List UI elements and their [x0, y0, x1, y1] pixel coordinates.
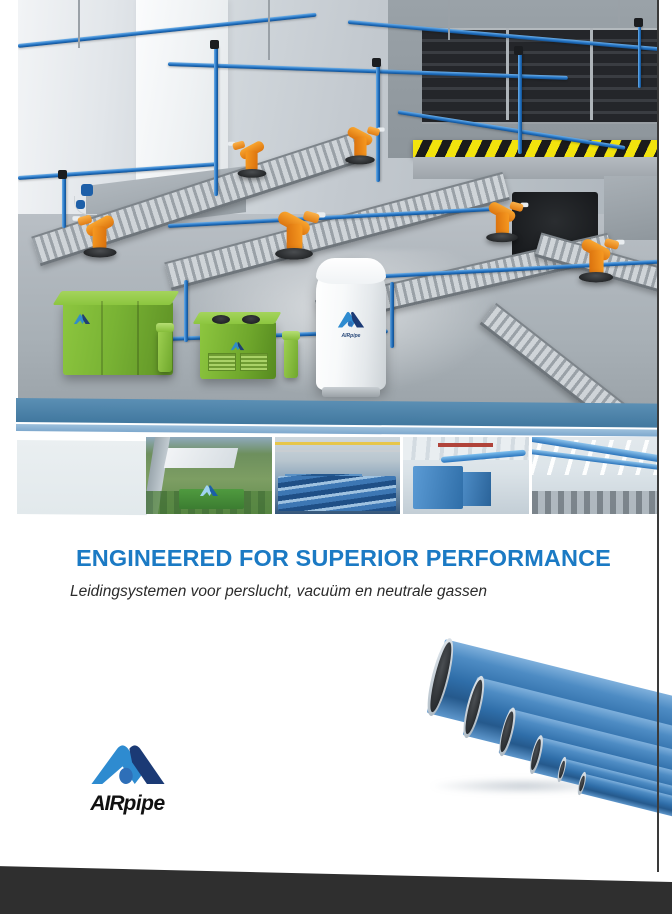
air-pipe-drop — [62, 176, 66, 228]
pipe-fitting — [58, 170, 67, 179]
robot-base — [579, 272, 613, 282]
pipe-hanger — [448, 0, 450, 40]
tank-dome — [316, 258, 386, 284]
robot-base — [275, 248, 313, 260]
fan-grille — [242, 315, 260, 324]
inline-filter — [284, 338, 298, 378]
fan-grille — [212, 315, 230, 324]
tank-branding: AIRpipe — [330, 310, 372, 339]
factory-roof — [164, 448, 239, 468]
page-border-right — [657, 0, 659, 872]
robotic-arm — [234, 128, 269, 178]
thumbnail-production-hall — [532, 437, 658, 514]
roof-truss — [275, 450, 401, 452]
vent-grille — [208, 353, 236, 371]
thumbnail-compressor-room — [403, 437, 529, 514]
robotic-arm — [575, 224, 617, 283]
roof-branding — [199, 484, 219, 502]
dryer-top — [193, 312, 282, 324]
air-pipe-drop — [214, 46, 218, 196]
robot-base — [238, 169, 267, 178]
filter-head — [156, 323, 174, 332]
air-pipe-drop — [518, 50, 522, 154]
panel-seam — [137, 301, 139, 375]
robot-base — [83, 247, 116, 257]
pipe-fitting — [372, 58, 381, 67]
crane-beam — [275, 442, 401, 445]
air-pipe-drop — [184, 280, 188, 342]
hero-image: AIRpipe — [18, 0, 657, 412]
compressor-unit — [463, 472, 491, 506]
air-outlet-station — [81, 184, 93, 196]
pipe-hanger — [268, 0, 270, 60]
footer-band — [0, 866, 672, 914]
brand-wordmark: AIRpipe — [70, 792, 185, 816]
airpipe-logo-icon — [230, 341, 245, 351]
thumbnail-aerial-factory-view — [146, 437, 272, 514]
vent-grille — [240, 353, 268, 371]
pipe-hanger — [618, 0, 620, 24]
refrigerant-dryer — [200, 321, 276, 379]
pipe-fitting — [514, 46, 523, 55]
airpipe-logo-svg — [87, 742, 169, 788]
pipe-fitting — [210, 40, 219, 49]
airpipe-logo-icon — [336, 310, 366, 329]
robot-base — [486, 233, 518, 243]
air-pipe-drop — [390, 282, 394, 348]
thumbnail-strip — [146, 437, 657, 514]
tank-wordmark: AIRpipe — [330, 333, 372, 339]
wordmark-air: AIR — [90, 792, 123, 815]
panel-seam — [101, 301, 103, 375]
robotic-arm — [80, 200, 120, 257]
airpipe-logo-icon — [199, 484, 219, 497]
thumbnail-strip-panel — [17, 440, 147, 515]
filter-head — [282, 331, 300, 340]
air-receiver-tank: AIRpipe — [316, 258, 386, 390]
brand-logo: AIRpipe — [70, 742, 185, 816]
thumbnail-warehouse-pipe-stock — [275, 437, 401, 514]
pipe-stack-image — [418, 628, 672, 818]
hero-accent-band — [16, 398, 657, 428]
wordmark-pipe: pipe — [124, 792, 165, 815]
air-pipe-drop — [638, 24, 641, 88]
robotic-arm — [483, 188, 522, 243]
machine-row — [532, 491, 658, 514]
inline-filter — [158, 330, 172, 372]
robotic-arm — [342, 114, 378, 165]
page-headline: ENGINEERED FOR SUPERIOR PERFORMANCE — [76, 545, 611, 572]
compressor-top — [53, 291, 180, 305]
pipe-fitting — [634, 18, 643, 27]
page-subheadline: Leidingsystemen voor perslucht, vacuüm e… — [70, 583, 487, 601]
robotic-arm — [271, 194, 317, 259]
airpipe-logo-icon — [73, 313, 91, 325]
robot-base — [345, 155, 375, 164]
pipe-hanger — [78, 0, 80, 48]
red-pipe — [438, 443, 493, 447]
compressor-unit — [413, 466, 463, 509]
pipe-bundle — [278, 476, 396, 511]
brochure-cover-page: AIRpipe — [0, 0, 672, 914]
air-compressor — [63, 301, 173, 375]
airpipe-chevron-logo-icon — [87, 742, 169, 788]
tank-base — [322, 387, 380, 397]
